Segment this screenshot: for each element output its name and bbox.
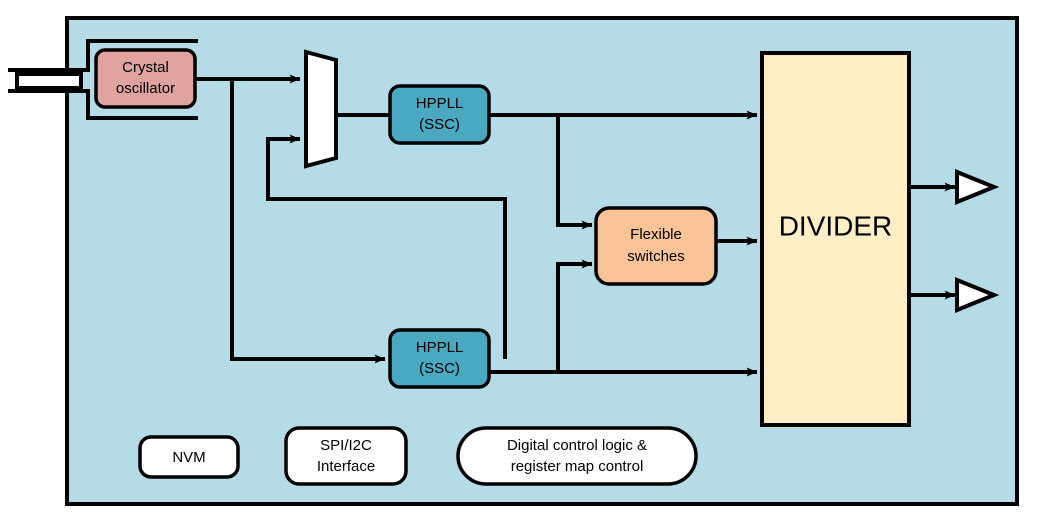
crystal-oscillator-label-line2: oscillator <box>116 80 175 97</box>
flexible-switches-label-line1: Flexible <box>630 226 682 243</box>
digital-control-label-line1: Digital control logic & <box>507 437 647 454</box>
nvm-block[interactable]: NVM <box>140 437 238 477</box>
nvm-label: NVM <box>172 449 205 466</box>
hppll-top-block[interactable]: HPPLL (SSC) <box>390 86 489 143</box>
divider-block[interactable]: DIVIDER <box>762 53 909 425</box>
flexible-switches-block[interactable]: Flexible switches <box>596 208 716 284</box>
hppll-bottom-label-line1: HPPLL <box>416 339 464 356</box>
crystal-oscillator-block[interactable]: Crystal oscillator <box>96 50 195 107</box>
flexible-switches-label-line2: switches <box>627 248 685 265</box>
hppll-top-label-line1: HPPLL <box>416 95 464 112</box>
divider-label: DIVIDER <box>779 210 893 241</box>
hppll-bottom-block[interactable]: HPPLL (SSC) <box>390 330 489 387</box>
digital-control-label-line2: register map control <box>511 458 644 475</box>
block-diagram-svg: Crystal oscillator HPPLL (SSC) <box>0 0 1040 522</box>
digital-control-logic-block[interactable]: Digital control logic & register map con… <box>458 428 696 484</box>
spi-i2c-label-line2: Interface <box>317 458 375 475</box>
input-multiplexer[interactable] <box>306 52 336 166</box>
hppll-top-label-line2: (SSC) <box>419 116 460 133</box>
hppll-bottom-label-line2: (SSC) <box>419 360 460 377</box>
spi-i2c-interface-block[interactable]: SPI/I2C Interface <box>286 428 406 484</box>
block-diagram-canvas: Crystal oscillator HPPLL (SSC) <box>0 0 1040 522</box>
crystal-oscillator-label-line1: Crystal <box>122 59 169 76</box>
spi-i2c-label-line1: SPI/I2C <box>320 437 372 454</box>
